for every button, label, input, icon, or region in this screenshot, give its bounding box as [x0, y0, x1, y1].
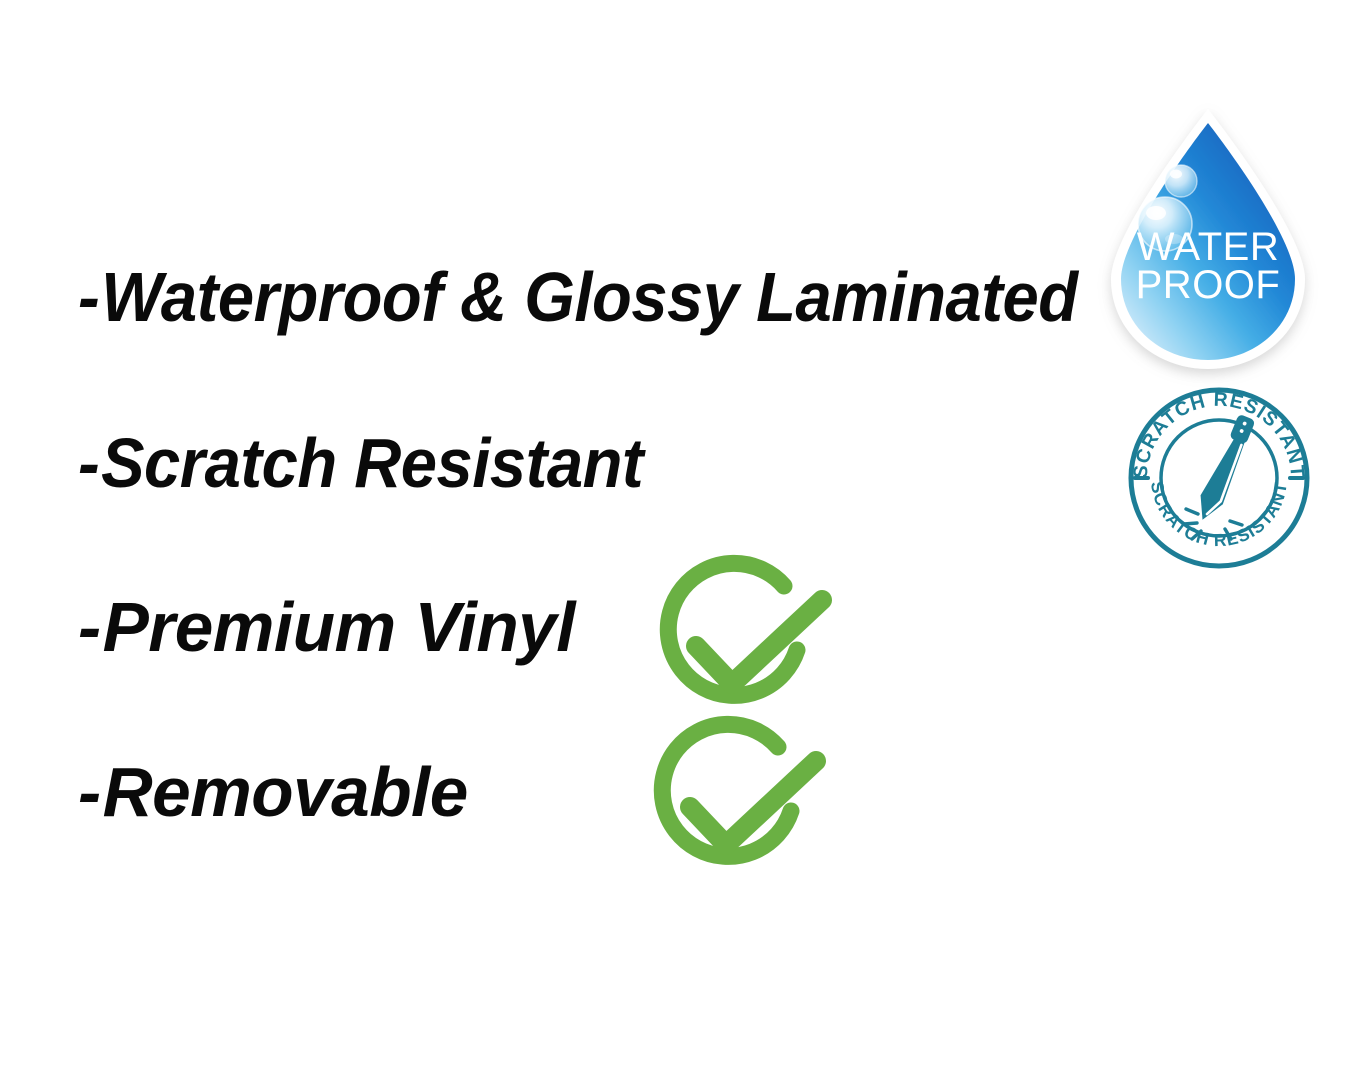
- feature-item-waterproof: -Waterproof & Glossy Laminated: [78, 262, 1078, 332]
- feature-label: Premium Vinyl: [103, 588, 575, 666]
- feature-item-scratch-resistant: -Scratch Resistant: [78, 428, 643, 498]
- circle-check-icon: [632, 703, 832, 903]
- bullet-dash: -: [78, 592, 101, 662]
- checkmark-removable: [632, 703, 832, 903]
- feature-label: Scratch Resistant: [101, 424, 643, 502]
- water-drop-icon: [1098, 103, 1318, 375]
- waterproof-badge: WATER PROOF: [1098, 103, 1318, 375]
- feature-item-premium-vinyl: -Premium Vinyl: [78, 592, 575, 662]
- scratch-resistant-stamp-icon: SCRATCH RESISTANT SCRATCH RESISTANT: [1124, 383, 1314, 573]
- feature-item-removable: -Removable: [78, 757, 468, 827]
- feature-label: Waterproof & Glossy Laminated: [101, 258, 1077, 336]
- scratch-resistant-badge: SCRATCH RESISTANT SCRATCH RESISTANT: [1124, 383, 1314, 573]
- bullet-dash: -: [78, 428, 99, 498]
- check-tick: [696, 600, 822, 684]
- page-canvas: -Waterproof & Glossy Laminated -Scratch …: [0, 0, 1359, 1080]
- bullet-dash: -: [78, 262, 99, 332]
- feature-label: Removable: [103, 753, 468, 831]
- check-tick: [690, 761, 816, 845]
- knife-icon: [1192, 412, 1256, 525]
- bullet-dash: -: [78, 757, 101, 827]
